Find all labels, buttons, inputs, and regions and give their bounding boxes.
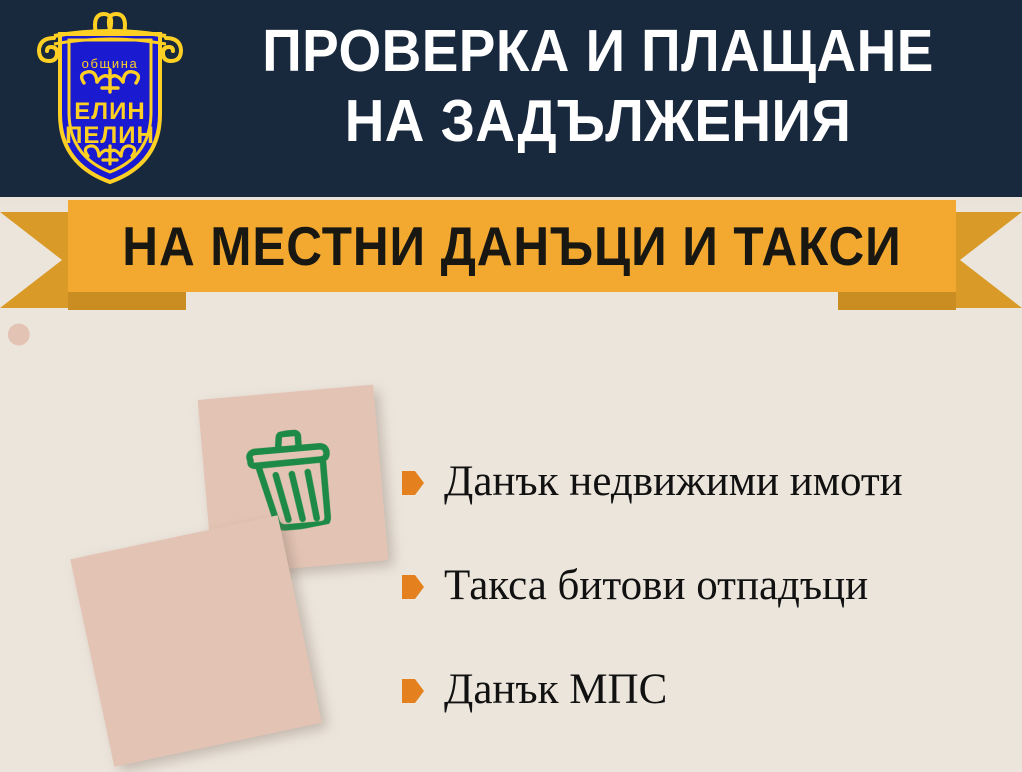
- ribbon-fold-right: [838, 290, 956, 310]
- tax-type-list: Данък недвижими имоти Такса битови отпад…: [402, 430, 1012, 742]
- ribbon-fold-left: [68, 290, 186, 310]
- stamp-inner-vehicle: [99, 544, 294, 739]
- poster-canvas: община ЕЛИН ПЕЛИН: [0, 0, 1022, 772]
- header-title-block: ПРОВЕРКА И ПЛАЩАНЕ НА ЗАДЪЛЖЕНИЯ: [186, 16, 1010, 156]
- ribbon-band: НА МЕСТНИ ДАНЪЦИ И ТАКСИ: [68, 200, 956, 292]
- stamp-group: [0, 300, 420, 772]
- stamp-inner-property: [31, 325, 205, 499]
- bullet-arrow-icon: [402, 574, 424, 600]
- list-item[interactable]: Данък недвижими имоти: [402, 430, 1012, 534]
- list-item-label: Такса битови отпадъци: [444, 562, 868, 610]
- stamp-vehicle-tax: [70, 515, 321, 766]
- list-item[interactable]: Данък МПС: [402, 638, 1012, 742]
- header-bar: община ЕЛИН ПЕЛИН: [0, 0, 1022, 197]
- municipality-logo: община ЕЛИН ПЕЛИН: [30, 6, 190, 188]
- coat-of-arms-icon: община ЕЛИН ПЕЛИН: [30, 6, 190, 188]
- list-item[interactable]: Такса битови отпадъци: [402, 534, 1012, 638]
- page-title-line-2: НА ЗАДЪЛЖЕНИЯ: [215, 86, 981, 156]
- list-item-label: Данък МПС: [444, 666, 667, 714]
- bullet-arrow-icon: [402, 470, 424, 496]
- list-item-label: Данък недвижими имоти: [444, 458, 903, 506]
- stamp-property-tax: [7, 301, 230, 524]
- logo-name-line1: ЕЛИН: [74, 98, 145, 125]
- ribbon-label: НА МЕСТНИ ДАНЪЦИ И ТАКСИ: [122, 217, 901, 275]
- page-title-line-1: ПРОВЕРКА И ПЛАЩАНЕ: [215, 16, 981, 86]
- bullet-arrow-icon: [402, 678, 424, 704]
- house-icon: [56, 356, 179, 469]
- car-icon: [127, 577, 264, 705]
- ribbon-banner: НА МЕСТНИ ДАНЪЦИ И ТАКСИ: [0, 196, 1022, 314]
